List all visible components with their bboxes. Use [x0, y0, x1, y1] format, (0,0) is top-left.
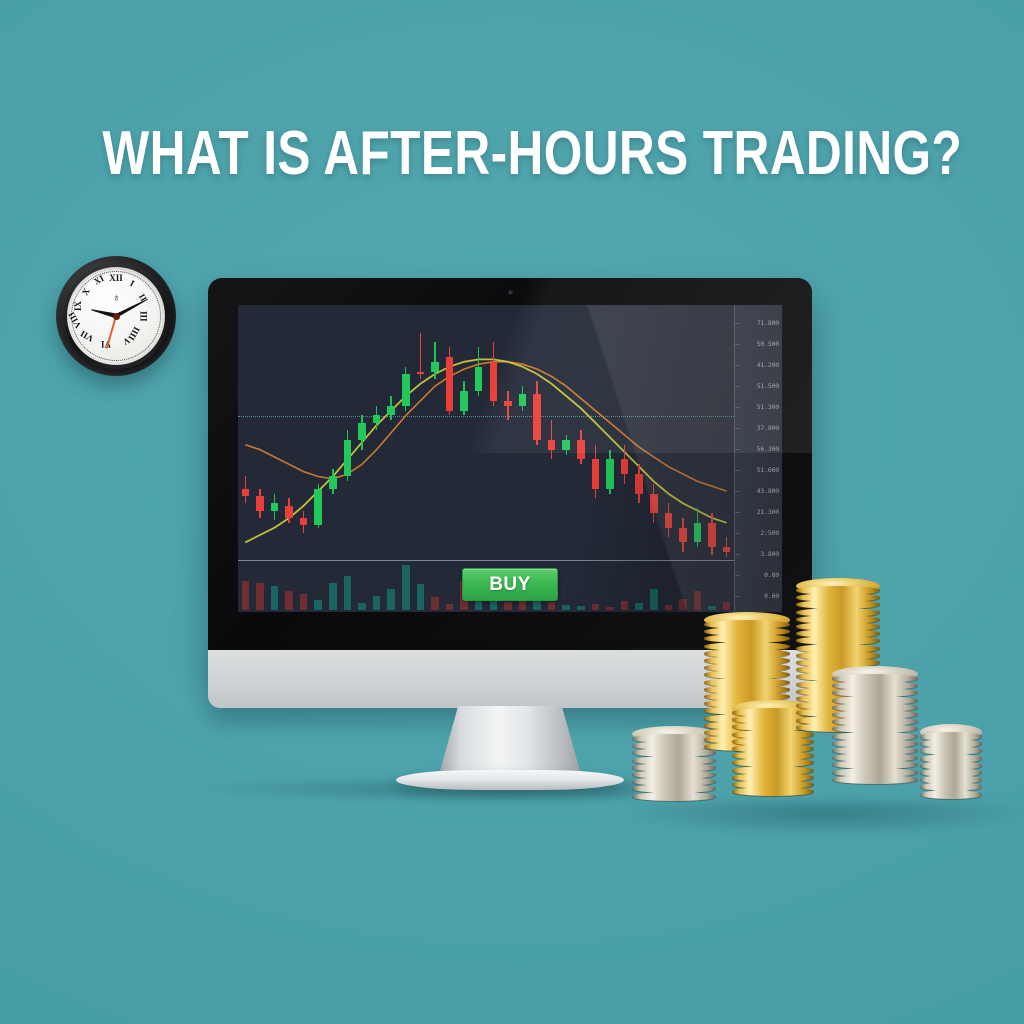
candle-body [475, 367, 483, 391]
price-axis-tick [735, 323, 740, 324]
volume-bar [285, 591, 293, 610]
candlestick [504, 305, 512, 612]
volume-bar [271, 586, 279, 610]
candlestick [490, 305, 498, 612]
candle-body [533, 394, 541, 440]
candlestick [271, 305, 279, 612]
candlestick [329, 305, 337, 612]
coin-stacks [632, 556, 1024, 836]
candle-body [621, 459, 629, 474]
candlestick [242, 305, 250, 612]
volume-bar [329, 583, 337, 610]
price-axis-tick [735, 533, 740, 534]
coin [920, 790, 982, 799]
price-axis-label: 43.800 [757, 487, 779, 495]
coin [632, 792, 716, 801]
clock-brand-mark: ♁ [112, 292, 119, 304]
volume-bar [621, 601, 629, 610]
candle-body [358, 423, 366, 440]
clock-numeral: IX [73, 301, 83, 311]
price-axis-tick [735, 512, 740, 513]
price-axis-label: 2:500 [760, 529, 779, 537]
candlestick [387, 305, 395, 612]
coin [732, 787, 814, 796]
price-axis-tick [735, 470, 740, 471]
candle-wick [507, 391, 508, 420]
candle-body [490, 362, 498, 401]
candlestick [460, 305, 468, 612]
price-axis-label: 56.300 [757, 445, 779, 453]
volume-bar [256, 583, 264, 610]
volume-bar [242, 581, 250, 610]
price-axis-tick [735, 491, 740, 492]
analog-wall-clock: XIIIIIIIIIIIIVVIVIIVIIIIXXXI ♁ [56, 256, 176, 376]
price-axis-label: 37.800 [757, 424, 779, 432]
volume-bar [577, 606, 585, 610]
candle-body [387, 406, 395, 416]
clock-center-pin [113, 313, 120, 320]
volume-bar [344, 576, 352, 610]
volume-bar [314, 600, 322, 610]
volume-bar [431, 597, 439, 610]
volume-bar [417, 584, 425, 610]
candle-body [665, 513, 673, 528]
candlestick [533, 305, 541, 612]
candle-body [650, 494, 658, 514]
price-axis-label: 41.200 [757, 361, 779, 369]
price-axis-label: 21.300 [757, 508, 779, 516]
price-axis-label: 51.500 [757, 382, 779, 390]
price-axis-label: 71.800 [757, 319, 779, 327]
candle-body [242, 489, 250, 496]
volume-bar [402, 565, 410, 610]
candle-body [519, 394, 527, 406]
candle-body [271, 503, 279, 510]
volume-bar [446, 604, 454, 610]
page-title: WHAT IS AFTER-HOURS TRADING? [102, 118, 921, 189]
candlestick [446, 305, 454, 612]
volume-bar [387, 589, 395, 610]
webcam-icon [508, 290, 513, 295]
candle-body [373, 415, 381, 422]
candlestick [344, 305, 352, 612]
candle-wick [434, 342, 435, 379]
candle-body [504, 401, 512, 406]
price-axis-label: 51.660 [757, 466, 779, 474]
volume-bar [548, 602, 556, 610]
buy-button[interactable]: BUY [462, 568, 558, 601]
candle-body [402, 374, 410, 406]
price-axis-tick [735, 386, 740, 387]
candle-body [314, 489, 322, 526]
candlestick [548, 305, 556, 612]
price-axis-label: 51.300 [757, 403, 779, 411]
candle-body [344, 440, 352, 477]
candlestick [373, 305, 381, 612]
volume-bar [592, 604, 600, 610]
silver-tall-right [832, 674, 918, 792]
candle-body [329, 476, 337, 488]
candlestick [562, 305, 570, 612]
candlestick [592, 305, 600, 612]
candle-body [460, 391, 468, 411]
candlestick [314, 305, 322, 612]
monitor-stand-neck [438, 706, 582, 778]
volume-bar [358, 603, 366, 610]
candle-body [431, 362, 439, 372]
price-axis-label: 50.500 [757, 340, 779, 348]
candlestick [519, 305, 527, 612]
volume-bar [300, 594, 308, 610]
candlestick [358, 305, 366, 612]
candle-body [548, 440, 556, 450]
candle-body [679, 528, 687, 543]
clock-numeral: XII [109, 273, 123, 283]
silver-far-right [920, 732, 982, 807]
candle-body [592, 459, 600, 488]
candlestick [577, 305, 585, 612]
price-axis-tick [735, 344, 740, 345]
scene-background: WHAT IS AFTER-HOURS TRADING? XIIIIIIIIII… [0, 0, 1024, 1024]
candlestick [417, 305, 425, 612]
candle-body [417, 372, 425, 374]
candlestick [475, 305, 483, 612]
candle-body [300, 518, 308, 525]
clock-face: XIIIIIIIIIIIIVVIVIIVIIIIXXXI ♁ [67, 267, 165, 365]
price-axis-tick [735, 449, 740, 450]
candlestick [621, 305, 629, 612]
monitor-stand-base [396, 770, 624, 790]
candle-body [577, 440, 585, 460]
candlestick [285, 305, 293, 612]
price-axis-tick [735, 554, 740, 555]
coin [832, 775, 918, 784]
candle-body [708, 523, 716, 547]
candle-body [256, 496, 264, 511]
volume-bar [562, 605, 570, 610]
clock-numeral: III [139, 311, 149, 322]
volume-bar [606, 607, 614, 610]
candlestick [431, 305, 439, 612]
volume-bar [373, 596, 381, 610]
volume-bar [504, 602, 512, 610]
price-axis-tick [735, 428, 740, 429]
candlestick [300, 305, 308, 612]
candle-body [606, 459, 614, 488]
candle-body [285, 506, 293, 518]
candle-body [635, 474, 643, 494]
candle-body [446, 357, 454, 411]
price-axis-tick [735, 365, 740, 366]
candle-body [562, 440, 570, 450]
price-axis-tick [735, 407, 740, 408]
candle-body [694, 523, 702, 543]
candlestick [256, 305, 264, 612]
candlestick [606, 305, 614, 612]
candle-body [723, 547, 731, 552]
